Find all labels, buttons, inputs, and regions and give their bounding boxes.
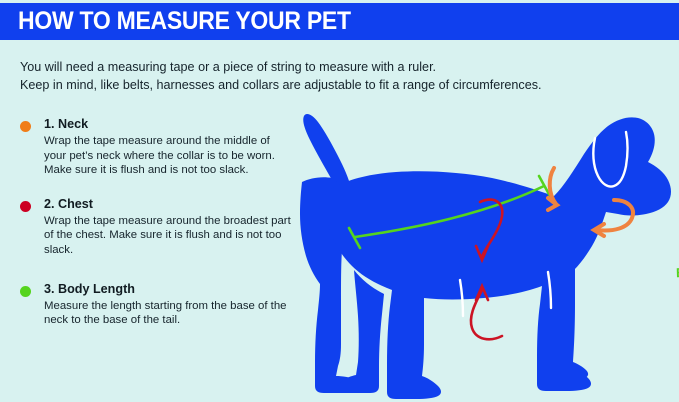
list-item-body: Wrap the tape measure around the middle … <box>44 134 293 178</box>
header-bar: HOW TO MEASURE YOUR PET <box>0 3 679 40</box>
list-item-body: Measure the length starting from the bas… <box>44 299 293 328</box>
list-item: 2. Chest Wrap the tape measure around th… <box>18 197 293 258</box>
intro-line-2: Keep in mind, like belts, harnesses and … <box>20 76 660 94</box>
bullet-dot-icon <box>20 121 31 132</box>
intro-line-1: You will need a measuring tape or a piec… <box>20 58 660 76</box>
intro-text: You will need a measuring tape or a piec… <box>20 58 660 94</box>
dog-diagram: BODY LENGTH NECK CHEST <box>296 104 679 402</box>
bullet-dot-icon <box>20 286 31 297</box>
dog-silhouette-icon <box>300 114 671 399</box>
list-item: 3. Body Length Measure the length starti… <box>18 282 293 328</box>
list-item-title: 1. Neck <box>44 117 293 132</box>
list-item-title: 2. Chest <box>44 197 293 212</box>
list-item-title: 3. Body Length <box>44 282 293 297</box>
bullet-dot-icon <box>20 201 31 212</box>
infographic-page: HOW TO MEASURE YOUR PET You will need a … <box>0 0 679 402</box>
page-title: HOW TO MEASURE YOUR PET <box>18 7 351 36</box>
list-item-body: Wrap the tape measure around the broades… <box>44 214 293 258</box>
list-item: 1. Neck Wrap the tape measure around the… <box>18 117 293 178</box>
instruction-list: 1. Neck Wrap the tape measure around the… <box>18 117 293 347</box>
